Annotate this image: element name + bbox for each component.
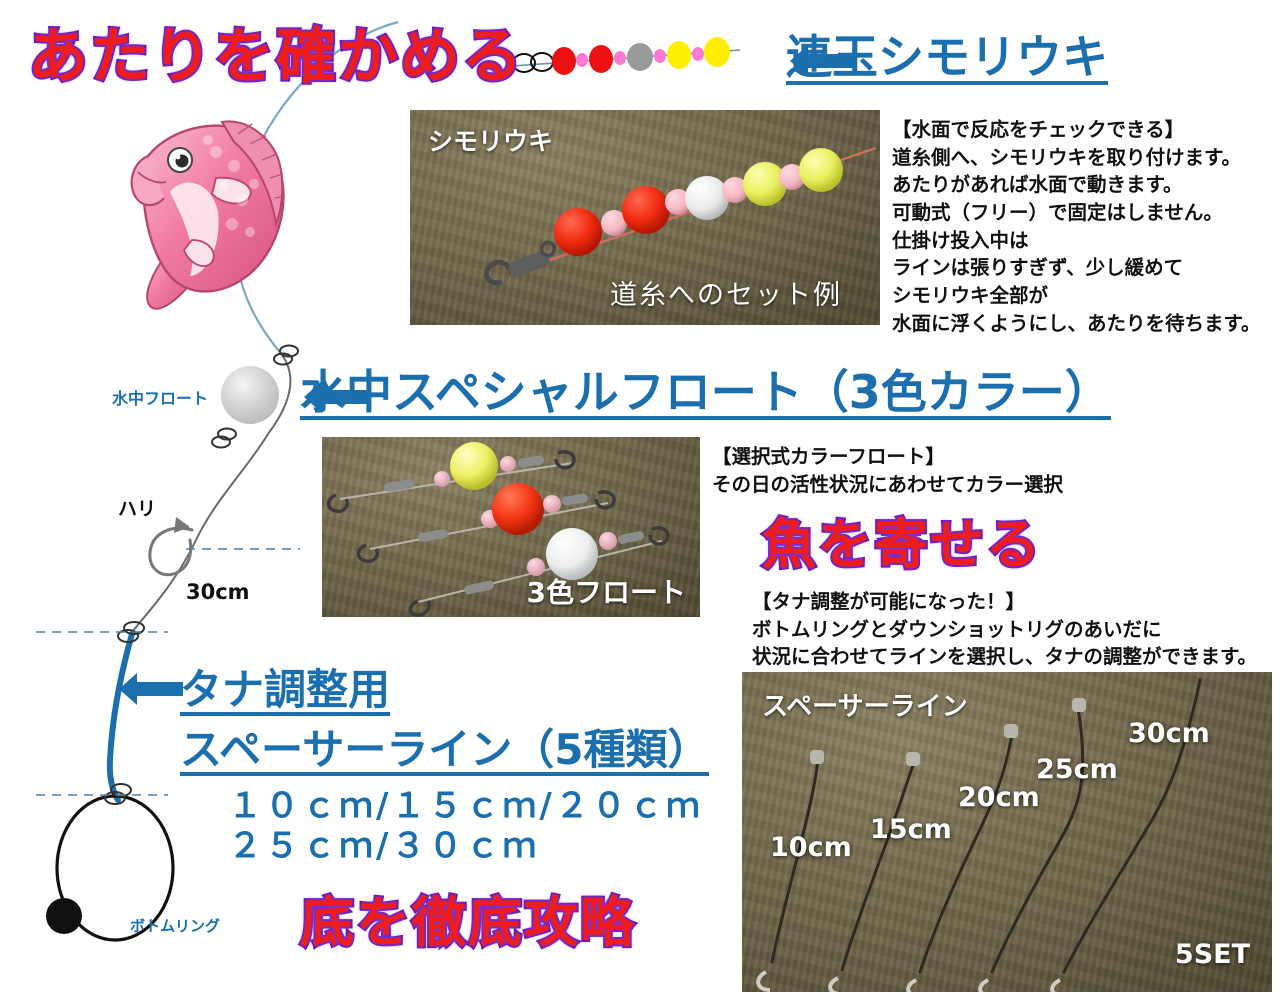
spacer-set-count-label: 5SET [1175,939,1250,970]
spacer-length-label-25cm: 25cm [1036,754,1118,785]
headline-attract-fish: 魚を寄せる [762,500,1042,579]
spacer-length-label-20cm: 20cm [958,782,1040,813]
label-hook-distance: 30cm [186,580,250,604]
heading-tana-adjust: タナ調整用 [180,668,390,716]
spacer-length-label-30cm: 30cm [1128,718,1210,749]
spacer-sizes-line-2: ２５ｃｍ/３０ｃｍ [228,818,539,867]
sea-bream-illustration [112,100,337,322]
photo-caption-simori: シモリウキ [428,122,553,158]
label-underwater-float: 水中フロート [112,385,208,409]
label-hook: ハリ [118,494,156,521]
photo-three-color-float: 3色フロート [322,437,700,617]
headline-conquer-bottom: 底を徹底攻略 [300,878,636,957]
description-simori: 【水面で反応をチェックできる】 道糸側へ、シモリウキを取り付けます。 あたりがあ… [892,116,1261,338]
description-spacer: 【タナ調整が可能になった！】 ボトムリングとダウンショットリグのあいだに 状況に… [752,588,1257,671]
label-bottom-ring: ボトムリング [130,915,220,936]
headline-check-bite: あたりを確かめる [28,8,524,95]
photo-simori-uki: シモリウキ 道糸へのセット例 [410,110,880,325]
photo-caption-three-color-float: 3色フロート [527,571,686,611]
simori-bead-chain-diagram [512,36,742,82]
heading-underwater-float: 水中スペシャルフロート（3色カラー） [300,368,1111,420]
heading-simori-uki: 連玉シモリウキ [786,33,1108,85]
photo-caption-spacer-line: スペーサーライン [762,686,968,723]
arrow-left-icon-spacer [135,682,183,696]
heading-spacer-line: スペーサーライン（5種類） [180,728,709,776]
spacer-length-label-10cm: 10cm [770,832,852,863]
photo-subcaption-line-set-example: 道糸へのセット例 [610,273,842,312]
infographic-canvas: あたりを確かめる 魚を寄せる 底を徹底攻略 連玉シモリウキ 水中スペシャルフロー… [0,0,1280,998]
description-float: 【選択式カラーフロート】 その日の活性状況にあわせてカラー選択 [712,443,1063,498]
photo-spacer-line: スペーサーライン 10cm 15cm 20cm 25cm 30cm 5SET [742,672,1272,992]
spacer-length-label-15cm: 15cm [870,814,952,845]
